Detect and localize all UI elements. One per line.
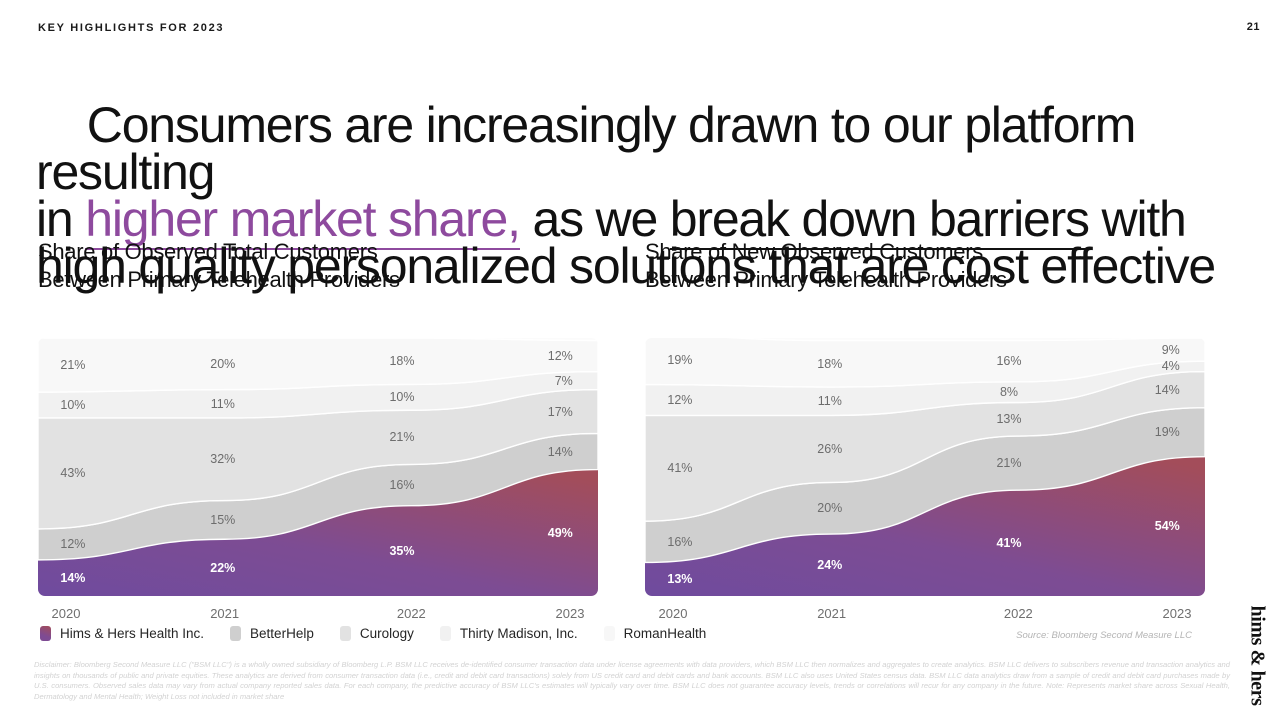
chart-plot-wrap-total: 14%22%35%49%12%15%16%14%43%32%21%17%10%1… — [38, 338, 598, 630]
legend-swatch-icon — [440, 626, 451, 641]
legend-item[interactable]: RomanHealth — [604, 626, 707, 641]
legend-label: RomanHealth — [624, 626, 707, 641]
chart-plot-wrap-new: 13%24%41%54%16%20%21%19%41%26%13%14%12%1… — [645, 338, 1205, 630]
chart-title-new: Share of New Observed Customers Between … — [645, 238, 1205, 294]
legend-item[interactable]: BetterHelp — [230, 626, 314, 641]
legend-label: BetterHelp — [250, 626, 314, 641]
x-axis-tick: 2022 — [397, 606, 426, 621]
chart-new-customers: Share of New Observed Customers Between … — [645, 238, 1205, 630]
chart-title-line-1: Share of Observed Total Customers — [38, 238, 598, 266]
chart-source: Source: Bloomberg Second Measure LLC — [1016, 630, 1192, 641]
stacked-area-plot-total: 14%22%35%49%12%15%16%14%43%32%21%17%10%1… — [38, 338, 598, 596]
x-axis-tick: 2020 — [52, 606, 81, 621]
chart-title-line-1: Share of New Observed Customers — [645, 238, 1205, 266]
x-axis-tick: 2021 — [210, 606, 239, 621]
legend-label: Curology — [360, 626, 414, 641]
logo-text: hims & hers — [1246, 605, 1269, 705]
legend-item[interactable]: Curology — [340, 626, 414, 641]
legend-item[interactable]: Thirty Madison, Inc. — [440, 626, 578, 641]
chart-legend: Hims & Hers Health Inc.BetterHelpCurolog… — [40, 626, 732, 641]
legend-label: Thirty Madison, Inc. — [460, 626, 578, 641]
chart-title-total: Share of Observed Total Customers Betwee… — [38, 238, 598, 294]
x-axis-tick: 2023 — [1163, 606, 1192, 621]
chart-title-line-2: Between Primary Telehealth Providers — [38, 266, 598, 294]
slide-page: KEY HIGHLIGHTS FOR 2023 21 Consumers are… — [0, 0, 1280, 725]
x-axis-tick: 2022 — [1004, 606, 1033, 621]
legend-swatch-icon — [230, 626, 241, 641]
legend-swatch-icon — [40, 626, 51, 641]
x-axis-tick: 2020 — [659, 606, 688, 621]
legend-swatch-icon — [604, 626, 615, 641]
page-number: 21 — [1247, 21, 1260, 33]
hims-and-hers-logo: hims & hers — [1240, 595, 1274, 715]
legend-item[interactable]: Hims & Hers Health Inc. — [40, 626, 204, 641]
legend-label: Hims & Hers Health Inc. — [60, 626, 204, 641]
chart-total-customers: Share of Observed Total Customers Betwee… — [38, 238, 598, 630]
chart-title-line-2: Between Primary Telehealth Providers — [645, 266, 1205, 294]
x-axis-tick: 2021 — [817, 606, 846, 621]
slide-eyebrow: KEY HIGHLIGHTS FOR 2023 — [38, 22, 224, 34]
x-axis-tick: 2023 — [556, 606, 585, 621]
disclaimer-text: Disclaimer: Bloomberg Second Measure LLC… — [34, 660, 1230, 702]
stacked-area-plot-new: 13%24%41%54%16%20%21%19%41%26%13%14%12%1… — [645, 338, 1205, 596]
legend-swatch-icon — [340, 626, 351, 641]
